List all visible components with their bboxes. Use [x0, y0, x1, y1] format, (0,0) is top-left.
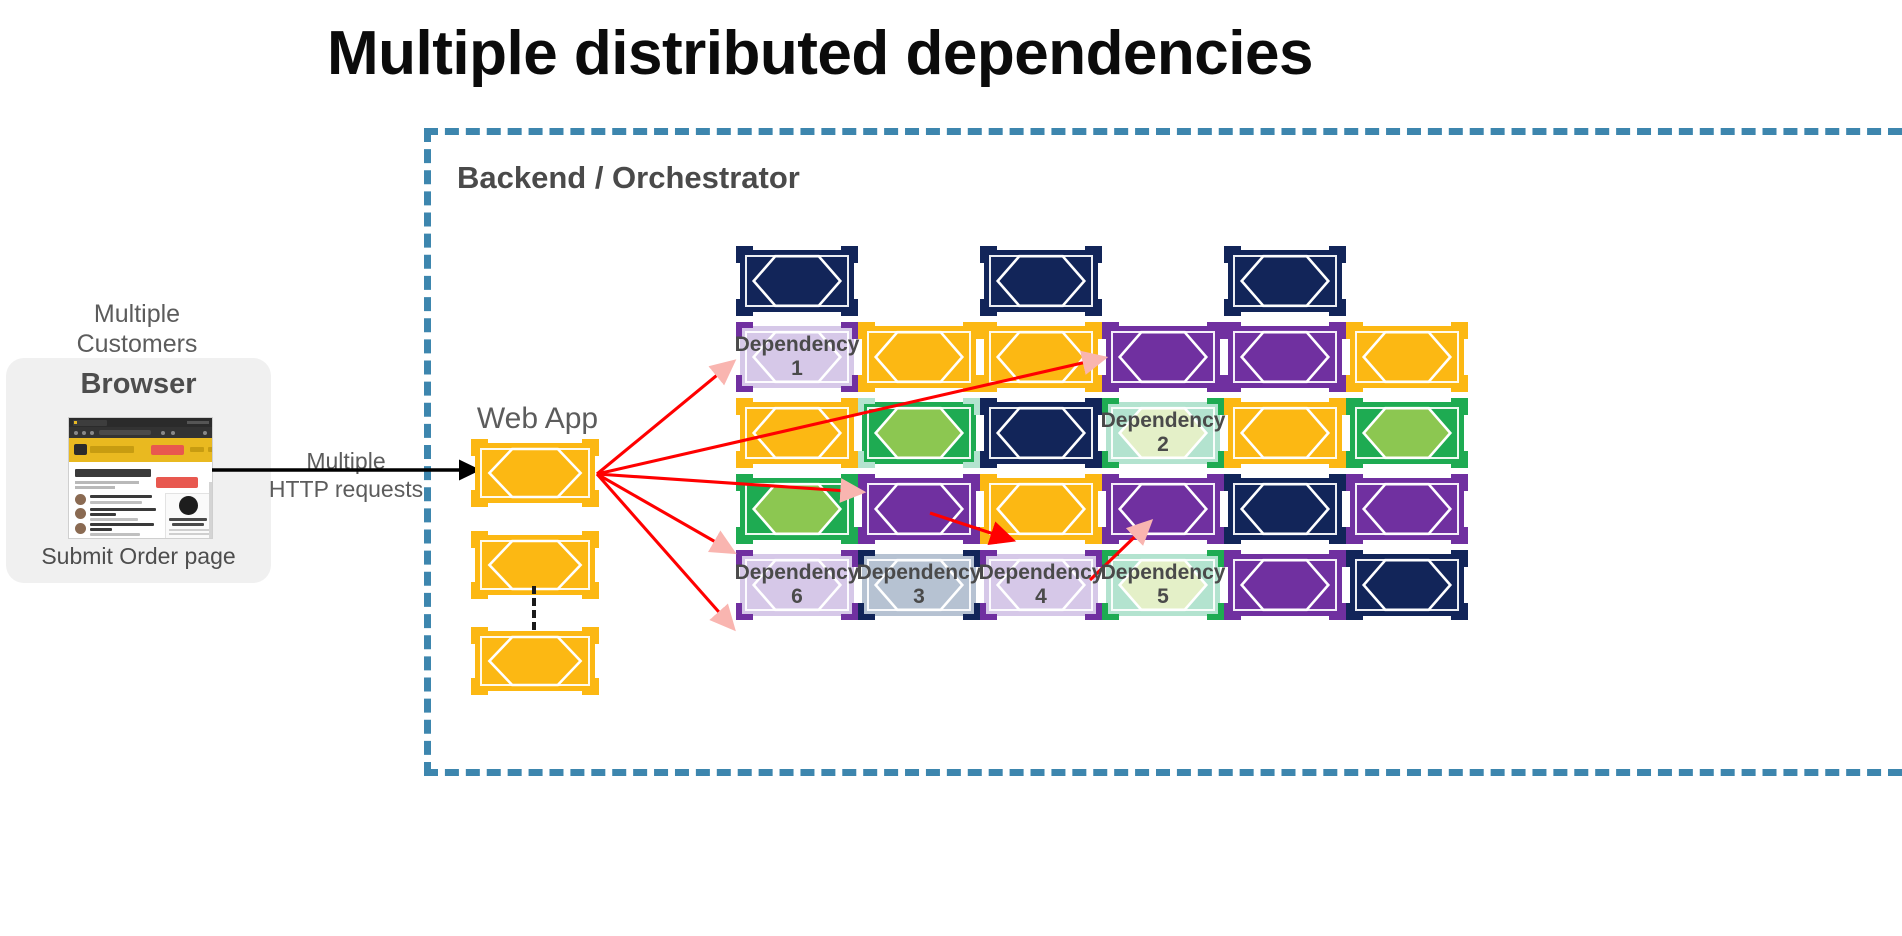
card-body-1 — [169, 529, 209, 531]
corner-bracket-bl — [1224, 603, 1241, 620]
corner-bracket-bl — [1346, 527, 1363, 544]
grid-card-r1-c5 — [1350, 402, 1464, 464]
corner-bracket-tl — [980, 246, 997, 263]
corner-bracket-bl — [1224, 299, 1241, 316]
dependency-card-1[interactable]: Dependency1 — [740, 326, 854, 388]
grid-card-r2-c3 — [1106, 478, 1220, 540]
browser-tab — [73, 420, 107, 426]
webapp-label: Web App — [455, 402, 620, 436]
site-header — [69, 438, 212, 462]
corner-bracket-tl — [858, 322, 875, 339]
card-inner-border — [1233, 331, 1337, 383]
grid-card-r2-c5 — [1350, 478, 1464, 540]
corner-bracket-br — [841, 527, 858, 544]
address-field — [99, 430, 151, 435]
corner-bracket-tl — [736, 474, 753, 491]
story-meta-2 — [90, 518, 138, 521]
dependency-label: Dependency3 — [862, 554, 976, 616]
dependency-label: Dependency1 — [740, 326, 854, 388]
corner-bracket-tr — [1329, 322, 1346, 339]
extensions-icon — [171, 431, 175, 435]
dependency-name: Dependency — [735, 333, 860, 357]
corner-bracket-br — [1207, 375, 1224, 392]
card-body-2 — [169, 533, 209, 535]
corner-bracket-tl — [471, 531, 488, 548]
corner-bracket-tl — [858, 474, 875, 491]
corner-bracket-tr — [963, 474, 980, 491]
corner-bracket-tl — [1102, 474, 1119, 491]
corner-bracket-br — [1085, 451, 1102, 468]
corner-bracket-br — [1085, 299, 1102, 316]
corner-bracket-bl — [1224, 527, 1241, 544]
corner-bracket-bl — [858, 527, 875, 544]
corner-bracket-tl — [1224, 322, 1241, 339]
story-title-3 — [90, 523, 154, 526]
corner-bracket-br — [963, 527, 980, 544]
dependency-number: 4 — [1035, 585, 1047, 609]
dependency-name: Dependency — [735, 561, 860, 585]
card-inner-border — [480, 636, 590, 686]
corner-bracket-tr — [841, 474, 858, 491]
corner-bracket-bl — [471, 490, 488, 507]
card-inner-border — [989, 407, 1093, 459]
dependency-label: Dependency5 — [1106, 554, 1220, 616]
grid-card-r0-c5 — [1350, 326, 1464, 388]
card-inner-border — [1233, 407, 1337, 459]
card-inner-border — [745, 407, 849, 459]
page-title: Multiple distributed dependencies — [0, 18, 1640, 89]
corner-bracket-tl — [1224, 474, 1241, 491]
corner-bracket-tl — [1346, 474, 1363, 491]
corner-bracket-bl — [736, 527, 753, 544]
news-subtext-2 — [75, 486, 115, 489]
dependency-card-2[interactable]: Dependency2 — [1106, 402, 1220, 464]
corner-bracket-tr — [841, 246, 858, 263]
star-icon — [161, 431, 165, 435]
corner-bracket-tr — [1085, 398, 1102, 415]
corner-bracket-tl — [1346, 550, 1363, 567]
webapp-stack — [473, 443, 598, 693]
corner-bracket-tl — [736, 246, 753, 263]
corner-bracket-tr — [963, 398, 980, 415]
js-logo-icon — [74, 444, 87, 455]
corner-bracket-br — [841, 299, 858, 316]
card-inner-border — [867, 483, 971, 535]
corner-bracket-br — [1329, 603, 1346, 620]
grid-card-r4-c4 — [1228, 554, 1342, 616]
customers-line-2: Customers — [22, 330, 252, 360]
story-title-2 — [90, 508, 156, 511]
corner-bracket-br — [1451, 375, 1468, 392]
corner-bracket-tr — [1451, 550, 1468, 567]
dependency-label: Dependency6 — [740, 554, 854, 616]
card-inner-border — [1355, 559, 1459, 611]
corner-bracket-tr — [1085, 246, 1102, 263]
corner-bracket-bl — [980, 451, 997, 468]
browser-titlebar — [69, 418, 212, 427]
multiple-customers-label: Multiple Customers — [22, 300, 252, 359]
grid-card-r0-c4 — [1228, 250, 1342, 312]
card-inner-border — [1233, 483, 1337, 535]
dependency-name: Dependency — [1101, 409, 1226, 433]
card-inner-border — [1111, 483, 1215, 535]
dependency-number: 1 — [791, 357, 803, 381]
browser-urlbar — [69, 427, 212, 438]
card-inner-border — [867, 407, 971, 459]
backend-label: Backend / Orchestrator — [457, 160, 800, 196]
reload-icon — [90, 431, 94, 435]
corner-bracket-bl — [858, 451, 875, 468]
grid-card-r3-c2 — [984, 478, 1098, 540]
story-title-3b — [90, 528, 112, 531]
card-inner-border — [989, 483, 1093, 535]
story-meta-3 — [90, 533, 140, 536]
news-heading — [75, 469, 151, 477]
corner-bracket-tr — [1329, 246, 1346, 263]
corner-bracket-tl — [1224, 398, 1241, 415]
slide-canvas: Multiple distributed dependencies Backen… — [0, 0, 1902, 936]
card-title-2 — [172, 523, 204, 526]
corner-bracket-tr — [582, 531, 599, 548]
dependency-name: Dependency — [1101, 561, 1226, 585]
corner-bracket-tl — [1346, 322, 1363, 339]
corner-bracket-bl — [980, 527, 997, 544]
corner-bracket-tl — [980, 474, 997, 491]
card-inner-border — [989, 255, 1093, 307]
card-inner-border — [1355, 407, 1459, 459]
avatar — [75, 494, 86, 505]
card-inner-border — [480, 448, 590, 498]
webapp-instance-1 — [475, 443, 595, 503]
corner-bracket-tr — [1329, 550, 1346, 567]
story-title-1 — [90, 495, 152, 498]
card-inner-border — [1233, 255, 1337, 307]
corner-bracket-br — [1329, 451, 1346, 468]
customers-line-1: Multiple — [22, 300, 252, 330]
webapp-stack-dashed-connector — [532, 586, 536, 630]
corner-bracket-tl — [980, 322, 997, 339]
corner-bracket-tl — [1224, 246, 1241, 263]
grid-card-r0-c0 — [740, 250, 854, 312]
menu-icon — [203, 431, 207, 435]
avatar — [75, 523, 86, 534]
corner-bracket-bl — [471, 582, 488, 599]
dependency-card-4[interactable]: Dependency4 — [984, 554, 1098, 616]
corner-bracket-bl — [1224, 375, 1241, 392]
grid-card-r1-c2 — [984, 326, 1098, 388]
dependency-number: 6 — [791, 585, 803, 609]
dependency-number: 2 — [1157, 433, 1169, 457]
card-inner-border — [1355, 483, 1459, 535]
grid-card-r0-c2 — [984, 250, 1098, 312]
dependency-card-5[interactable]: Dependency5 — [1106, 554, 1220, 616]
corner-bracket-tr — [1451, 398, 1468, 415]
corner-bracket-bl — [1102, 527, 1119, 544]
browser-screenshot — [69, 418, 212, 538]
story-meta-1 — [90, 501, 142, 504]
corner-bracket-br — [1329, 527, 1346, 544]
http-request-arrow — [212, 455, 492, 485]
story-title-2b — [90, 513, 116, 516]
corner-bracket-br — [963, 375, 980, 392]
card-inner-border — [1355, 331, 1459, 383]
window-controls-icon — [187, 421, 209, 424]
dependency-card-6[interactable]: Dependency6 — [740, 554, 854, 616]
back-arrow-icon — [74, 431, 78, 435]
card-inner-border — [867, 331, 971, 383]
corner-bracket-bl — [980, 375, 997, 392]
corner-bracket-tl — [1102, 322, 1119, 339]
avatar — [75, 508, 86, 519]
grid-card-r0-c3 — [1106, 326, 1220, 388]
corner-bracket-tr — [1329, 474, 1346, 491]
corner-bracket-br — [1329, 299, 1346, 316]
corner-bracket-tr — [1451, 322, 1468, 339]
corner-bracket-tl — [858, 398, 875, 415]
webapp-instance-3 — [475, 631, 595, 691]
grid-card-r3-c4 — [1228, 478, 1342, 540]
grid-card-r1-c4 — [1228, 326, 1342, 388]
corner-bracket-br — [1329, 375, 1346, 392]
favicon-icon — [74, 421, 77, 424]
corner-bracket-bl — [1102, 375, 1119, 392]
corner-bracket-tl — [736, 398, 753, 415]
grid-card-r0-c1 — [862, 326, 976, 388]
corner-bracket-tr — [582, 439, 599, 456]
corner-bracket-br — [1451, 603, 1468, 620]
dependency-name: Dependency — [857, 561, 982, 585]
site-body — [69, 462, 212, 538]
card-inner-border — [745, 255, 849, 307]
corner-bracket-tr — [1207, 322, 1224, 339]
corner-bracket-tr — [1451, 474, 1468, 491]
dependency-grid: Dependency1Dependency6Dependency3Depende… — [735, 250, 1475, 670]
corner-bracket-bl — [471, 678, 488, 695]
dependency-name: Dependency — [979, 561, 1104, 585]
corner-bracket-tl — [471, 627, 488, 644]
corner-bracket-bl — [1346, 603, 1363, 620]
card-inner-border — [480, 540, 590, 590]
dependency-number: 5 — [1157, 585, 1169, 609]
submit-order-caption: Submit Order page — [6, 543, 271, 570]
scrollbar[interactable] — [209, 482, 212, 538]
grid-card-r2-c2 — [984, 402, 1098, 464]
corner-bracket-bl — [736, 299, 753, 316]
forward-arrow-icon — [82, 431, 86, 435]
dependency-label: Dependency4 — [984, 554, 1098, 616]
course-badge-icon — [179, 496, 198, 515]
corner-bracket-bl — [736, 451, 753, 468]
corner-bracket-tr — [1329, 398, 1346, 415]
card-title-1 — [169, 518, 207, 521]
dependency-number: 3 — [913, 585, 925, 609]
corner-bracket-bl — [1346, 375, 1363, 392]
corner-bracket-bl — [1346, 451, 1363, 468]
corner-bracket-br — [963, 451, 980, 468]
card-inner-border — [1233, 559, 1337, 611]
corner-bracket-br — [582, 490, 599, 507]
news-subtext-1 — [75, 481, 139, 484]
dependency-card-3[interactable]: Dependency3 — [862, 554, 976, 616]
corner-bracket-br — [1085, 527, 1102, 544]
corner-bracket-br — [582, 678, 599, 695]
grid-card-r1-c1 — [862, 402, 976, 464]
dependency-label: Dependency2 — [1106, 402, 1220, 464]
corner-bracket-bl — [980, 299, 997, 316]
corner-bracket-bl — [1224, 451, 1241, 468]
nav-news — [208, 447, 212, 452]
corner-bracket-tl — [471, 439, 488, 456]
corner-bracket-tr — [841, 398, 858, 415]
grid-card-r2-c4 — [1228, 402, 1342, 464]
submit-story-button — [156, 477, 198, 488]
corner-bracket-br — [1207, 527, 1224, 544]
corner-bracket-br — [1451, 451, 1468, 468]
corner-bracket-br — [582, 582, 599, 599]
nav-learn — [190, 447, 204, 452]
card-inner-border — [745, 483, 849, 535]
corner-bracket-tr — [1085, 474, 1102, 491]
corner-bracket-tr — [582, 627, 599, 644]
grid-card-r2-c0 — [740, 402, 854, 464]
corner-bracket-tl — [980, 398, 997, 415]
corner-bracket-bl — [858, 375, 875, 392]
browser-title: Browser — [6, 368, 271, 401]
corner-bracket-tl — [1346, 398, 1363, 415]
grid-card-r3-c0 — [740, 478, 854, 540]
grid-card-r3-c5 — [1350, 554, 1464, 616]
card-inner-border — [1111, 331, 1215, 383]
try-javascript-button — [151, 445, 184, 455]
corner-bracket-tl — [1224, 550, 1241, 567]
grid-card-r2-c1 — [862, 478, 976, 540]
corner-bracket-tr — [963, 322, 980, 339]
corner-bracket-br — [1085, 375, 1102, 392]
corner-bracket-tr — [1085, 322, 1102, 339]
corner-bracket-br — [841, 451, 858, 468]
site-wordmark — [90, 446, 134, 453]
corner-bracket-br — [1451, 527, 1468, 544]
card-inner-border — [989, 331, 1093, 383]
corner-bracket-tr — [1207, 474, 1224, 491]
